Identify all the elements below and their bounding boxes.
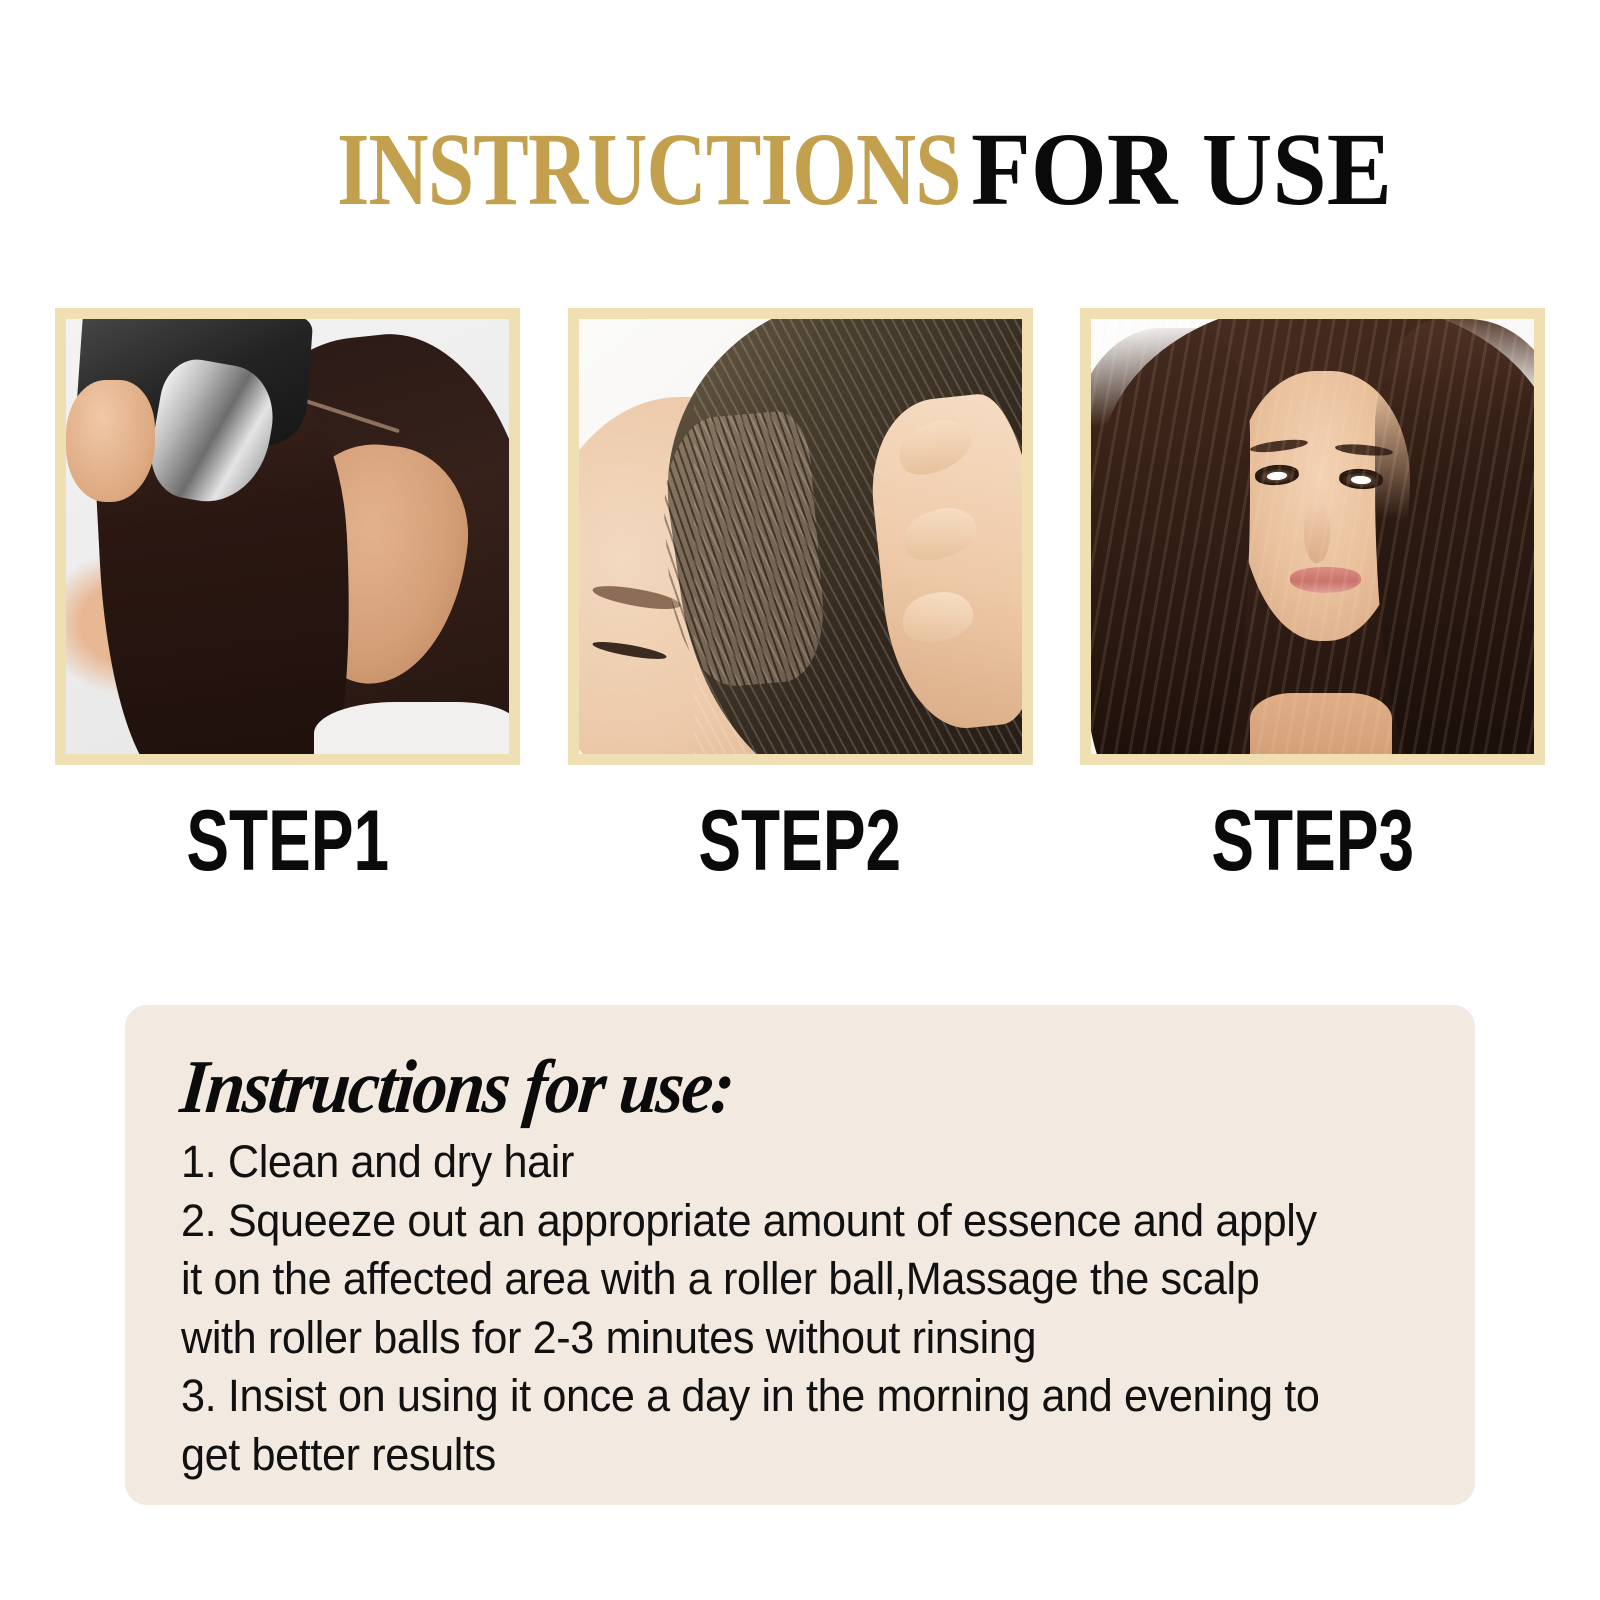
step-card-1: STEP1 [55, 308, 520, 908]
steps-row: STEP1 STEP2 [55, 308, 1545, 908]
shoulder-shape [314, 702, 509, 754]
step-3-label: STEP3 [1080, 801, 1545, 881]
instruction-line: 3. Insist on using it once a day in the … [181, 1367, 1375, 1426]
step-card-3: STEP3 [1080, 308, 1545, 908]
hand-shape [66, 380, 155, 502]
instruction-line: 2. Squeeze out an appropriate amount of … [181, 1192, 1375, 1251]
step-2-label: STEP2 [568, 801, 1033, 881]
healthy-hair-photo [1091, 319, 1534, 754]
instruction-line: 1. Clean and dry hair [181, 1133, 1375, 1192]
hair-sheen-texture [1091, 319, 1534, 754]
instructions-body: 1. Clean and dry hair 2. Squeeze out an … [181, 1133, 1425, 1484]
step-1-photo-frame [55, 308, 520, 765]
page-title: INSTRUCTIONSFOR USE [0, 118, 1600, 222]
instructions-heading: Instructions for use: [177, 1049, 1329, 1125]
step-1-label: STEP1 [55, 801, 520, 881]
step-card-2: STEP2 [568, 308, 1033, 908]
blow-dry-photo [66, 319, 509, 754]
step-3-photo-frame [1080, 308, 1545, 765]
instruction-line: it on the affected area with a roller ba… [181, 1250, 1375, 1309]
instructions-panel: Instructions for use: 1. Clean and dry h… [125, 1005, 1475, 1505]
instruction-line: get better results [181, 1426, 1375, 1485]
step-2-photo-frame [568, 308, 1033, 765]
instruction-line: with roller balls for 2-3 minutes withou… [181, 1309, 1375, 1368]
instructions-for-use-page: INSTRUCTIONSFOR USE STEP1 [0, 0, 1600, 1600]
page-title-gold: INSTRUCTIONS [337, 118, 961, 222]
scalp-closeup-photo [579, 319, 1022, 754]
page-title-black: FOR USE [971, 118, 1392, 222]
